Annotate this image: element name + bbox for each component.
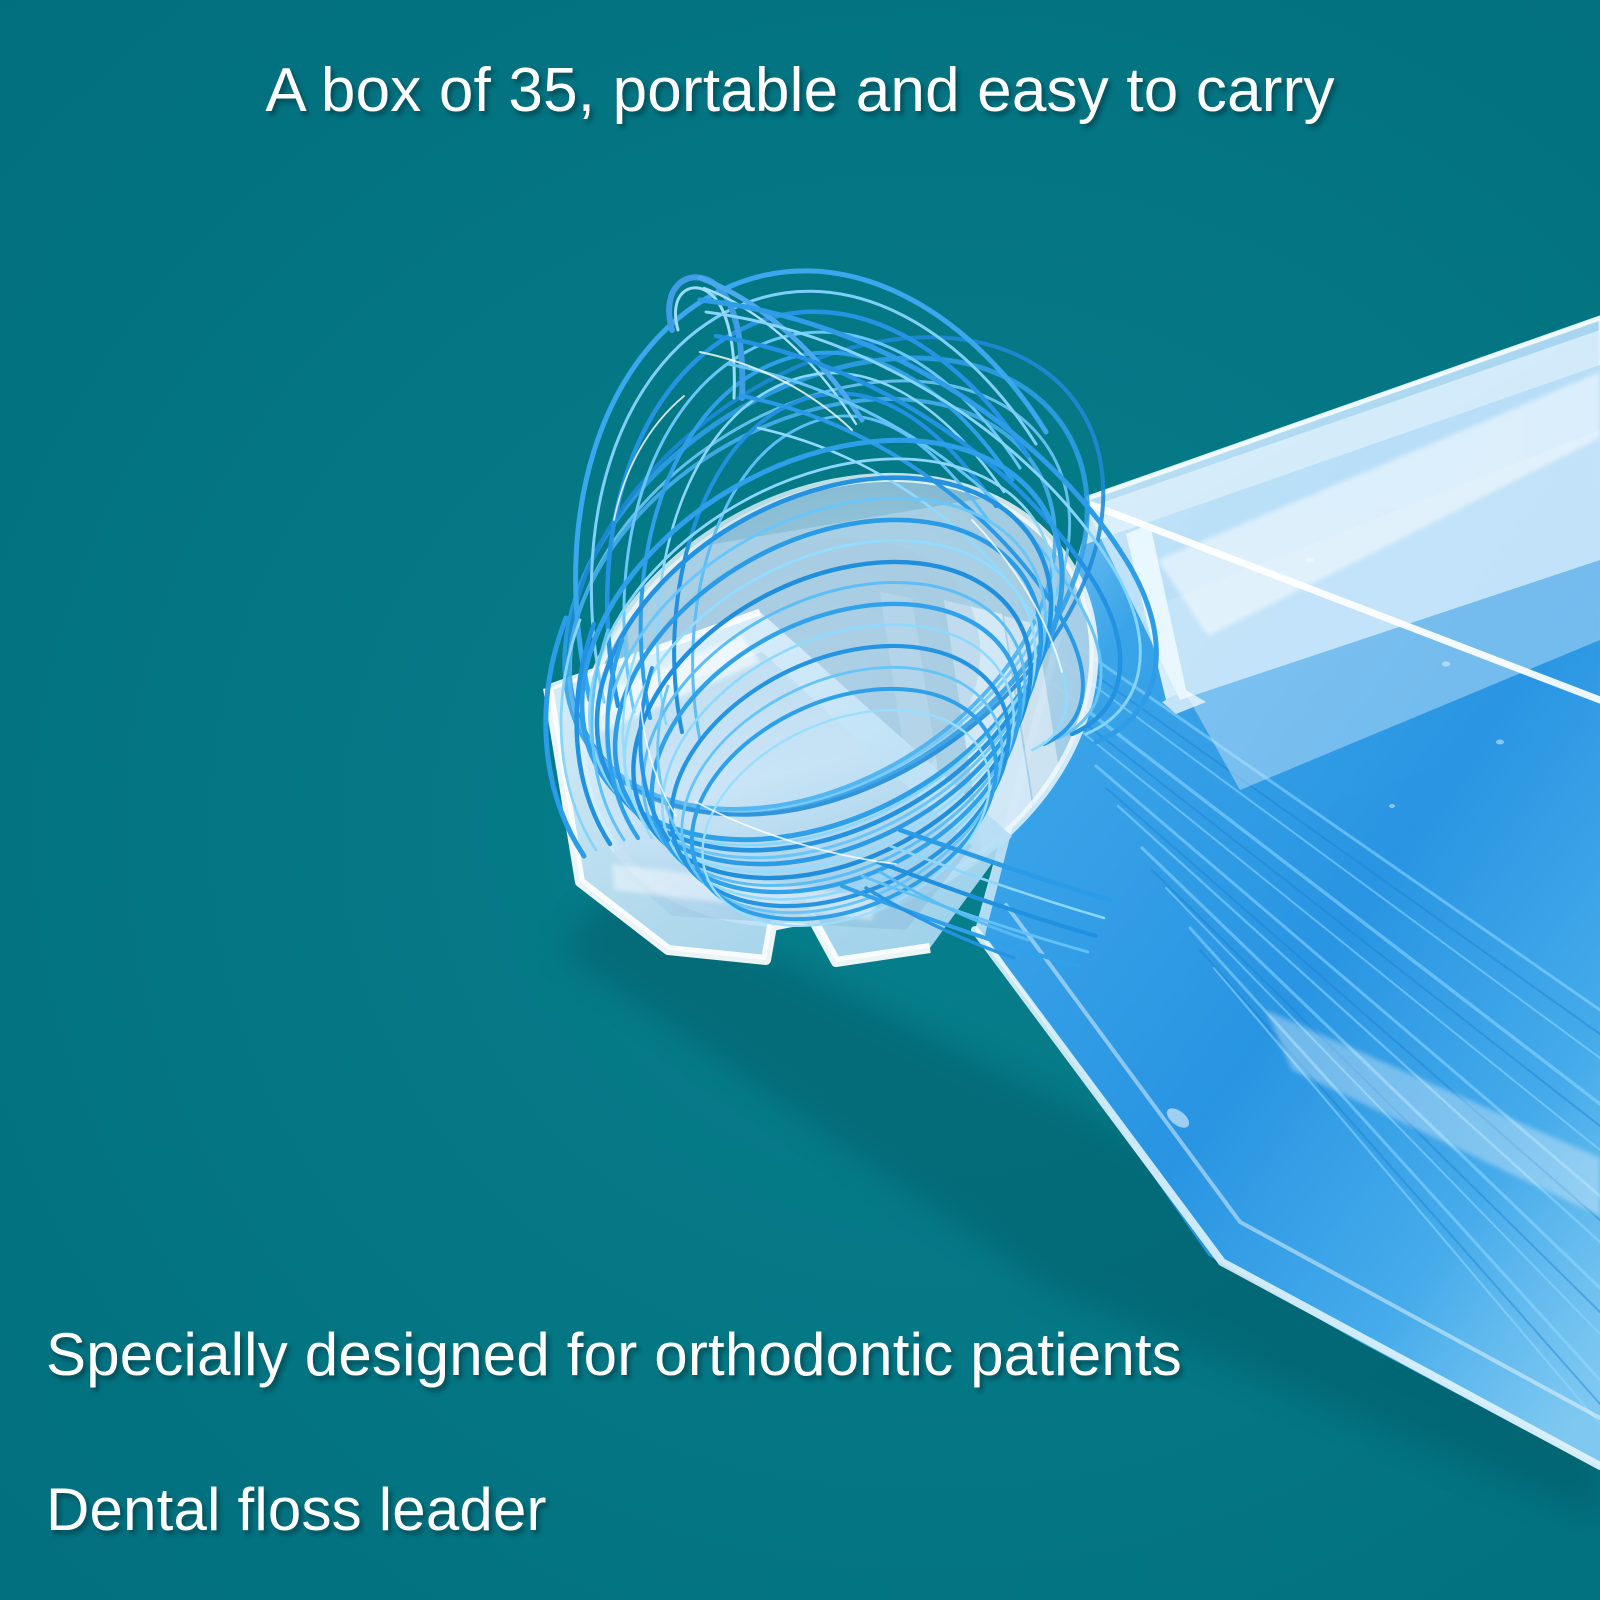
headline-text: A box of 35, portable and easy to carry (0, 58, 1600, 123)
product-image: A box of 35, portable and easy to carry … (0, 0, 1600, 1600)
subline-orthodontic: Specially designed for orthodontic patie… (46, 1323, 1182, 1386)
subline-dental-floss-leader: Dental floss leader (46, 1478, 547, 1541)
